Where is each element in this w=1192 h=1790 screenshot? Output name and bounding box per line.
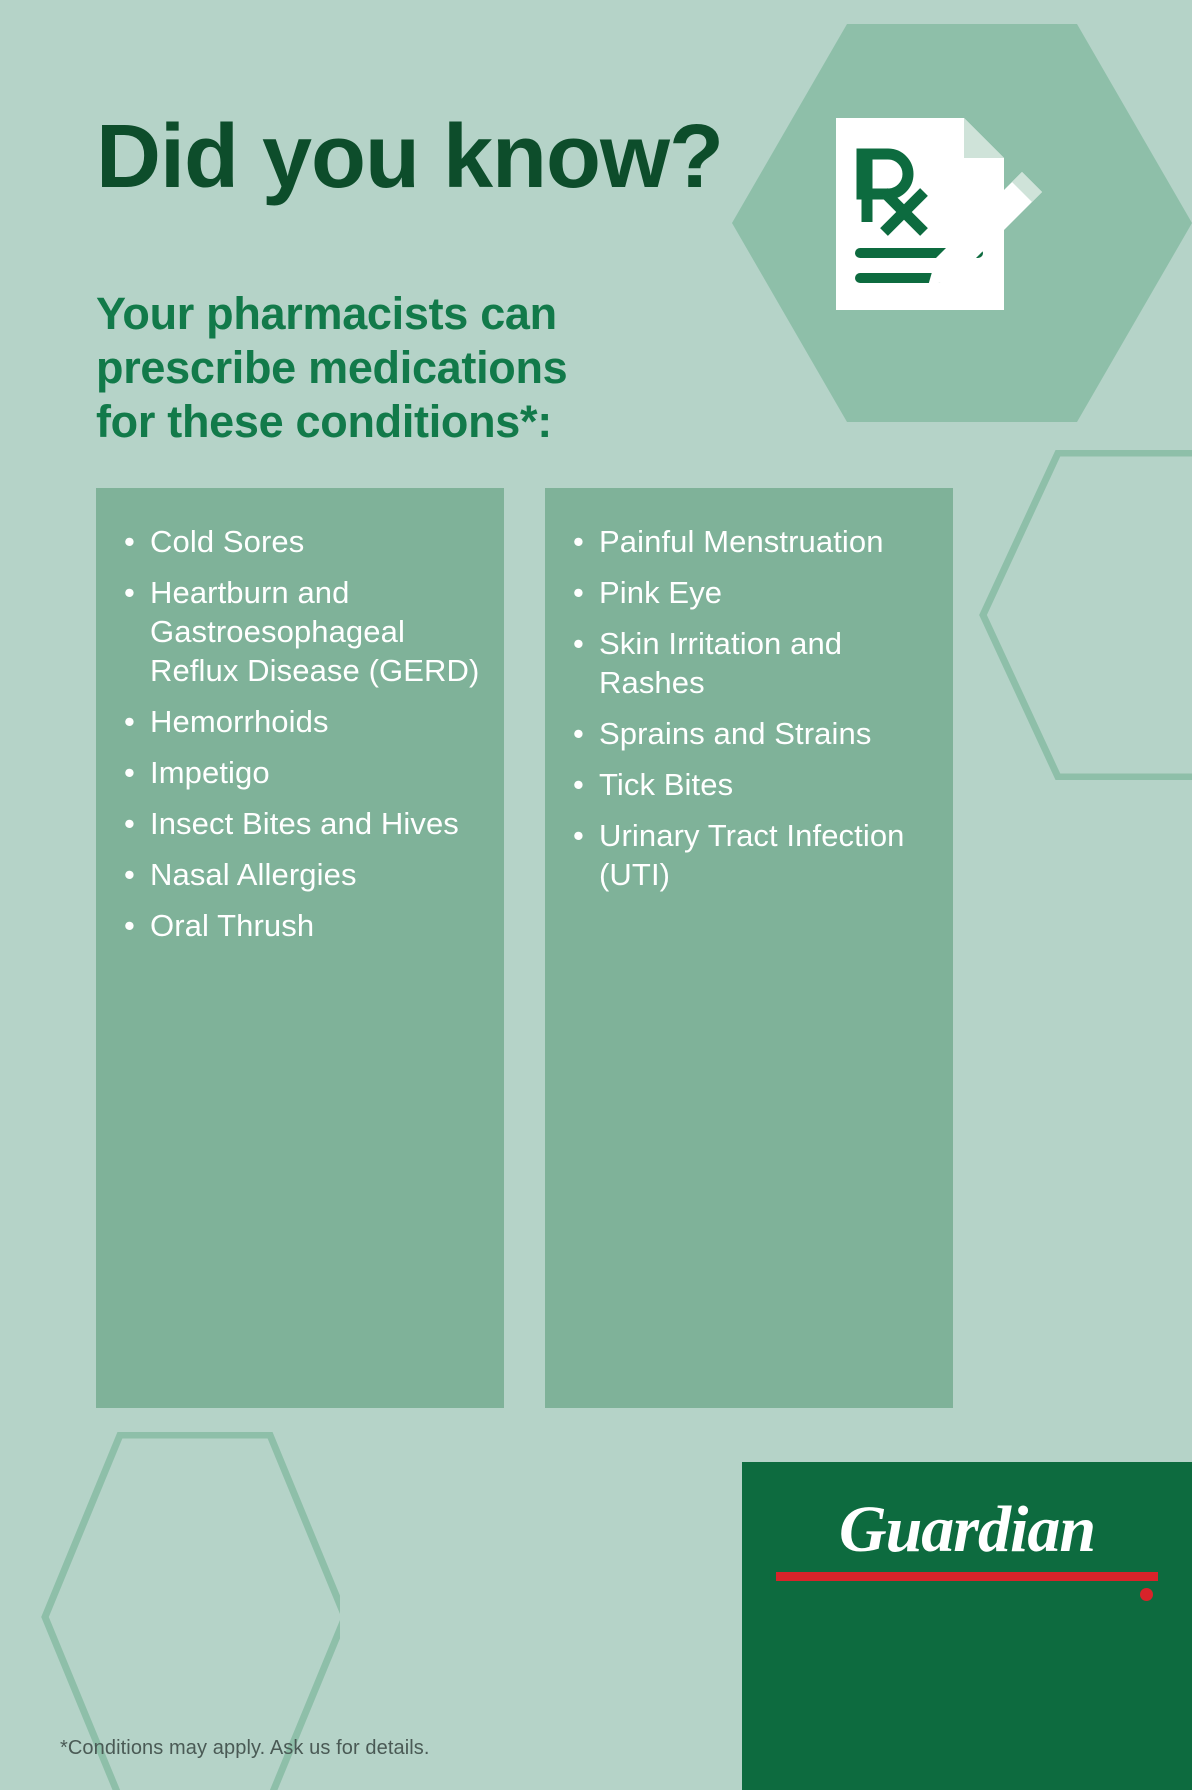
list-item: •Nasal Allergies [120,855,486,894]
list-item: •Impetigo [120,753,486,792]
list-item-label: Insect Bites and Hives [150,806,459,841]
bullet-icon: • [573,624,584,663]
list-item: •Skin Irritation and Rashes [569,624,935,702]
bullet-icon: • [573,765,584,804]
list-item: •Cold Sores [120,522,486,561]
list-item: •Tick Bites [569,765,935,804]
bullet-icon: • [124,522,135,561]
list-item-label: Sprains and Strains [599,716,871,751]
list-item: •Urinary Tract Infection (UTI) [569,816,935,894]
guardian-logo-dot [1140,1588,1153,1601]
page-title: Did you know? [96,112,723,202]
subheading-line-3: for these conditions*: [96,395,567,449]
list-item: •Insect Bites and Hives [120,804,486,843]
guardian-logo-underline [776,1572,1158,1581]
bullet-icon: • [124,855,135,894]
list-item: •Pink Eye [569,573,935,612]
conditions-list-left: •Cold Sores•Heartburn and Gastroesophage… [96,488,504,945]
list-item: •Heartburn and Gastroesophageal Reflux D… [120,573,486,690]
list-item-label: Painful Menstruation [599,524,884,559]
poster-canvas: Did you know? Your pharmacists can presc… [0,0,1192,1790]
guardian-logo: Guardian [742,1462,1192,1790]
rx-prescription-icon [826,110,1046,340]
list-item: •Oral Thrush [120,906,486,945]
subheading-line-2: prescribe medications [96,341,567,395]
conditions-list-right: •Painful Menstruation•Pink Eye•Skin Irri… [545,488,953,894]
bullet-icon: • [124,804,135,843]
list-item-label: Tick Bites [599,767,733,802]
subheading: Your pharmacists can prescribe medicatio… [96,287,567,449]
guardian-logo-wordmark: Guardian [742,1492,1192,1568]
list-item-label: Heartburn and Gastroesophageal Reflux Di… [150,575,479,688]
bullet-icon: • [124,906,135,945]
list-item-label: Impetigo [150,755,270,790]
list-item: •Hemorrhoids [120,702,486,741]
list-item-label: Oral Thrush [150,908,314,943]
subheading-line-1: Your pharmacists can [96,287,567,341]
list-item: •Painful Menstruation [569,522,935,561]
conditions-panel-right: •Painful Menstruation•Pink Eye•Skin Irri… [545,488,953,1408]
footnote-text: *Conditions may apply. Ask us for detail… [60,1737,430,1760]
bullet-icon: • [573,522,584,561]
bullet-icon: • [124,702,135,741]
list-item-label: Nasal Allergies [150,857,357,892]
conditions-panel-left: •Cold Sores•Heartburn and Gastroesophage… [96,488,504,1408]
list-item-label: Urinary Tract Infection (UTI) [599,818,905,892]
bullet-icon: • [573,714,584,753]
hexagon-outline-right-icon [978,450,1192,780]
list-item-label: Hemorrhoids [150,704,329,739]
list-item: •Sprains and Strains [569,714,935,753]
list-item-label: Skin Irritation and Rashes [599,626,842,700]
list-item-label: Pink Eye [599,575,722,610]
list-item-label: Cold Sores [150,524,304,559]
bullet-icon: • [573,573,584,612]
bullet-icon: • [124,753,135,792]
bullet-icon: • [124,573,135,612]
bullet-icon: • [573,816,584,855]
